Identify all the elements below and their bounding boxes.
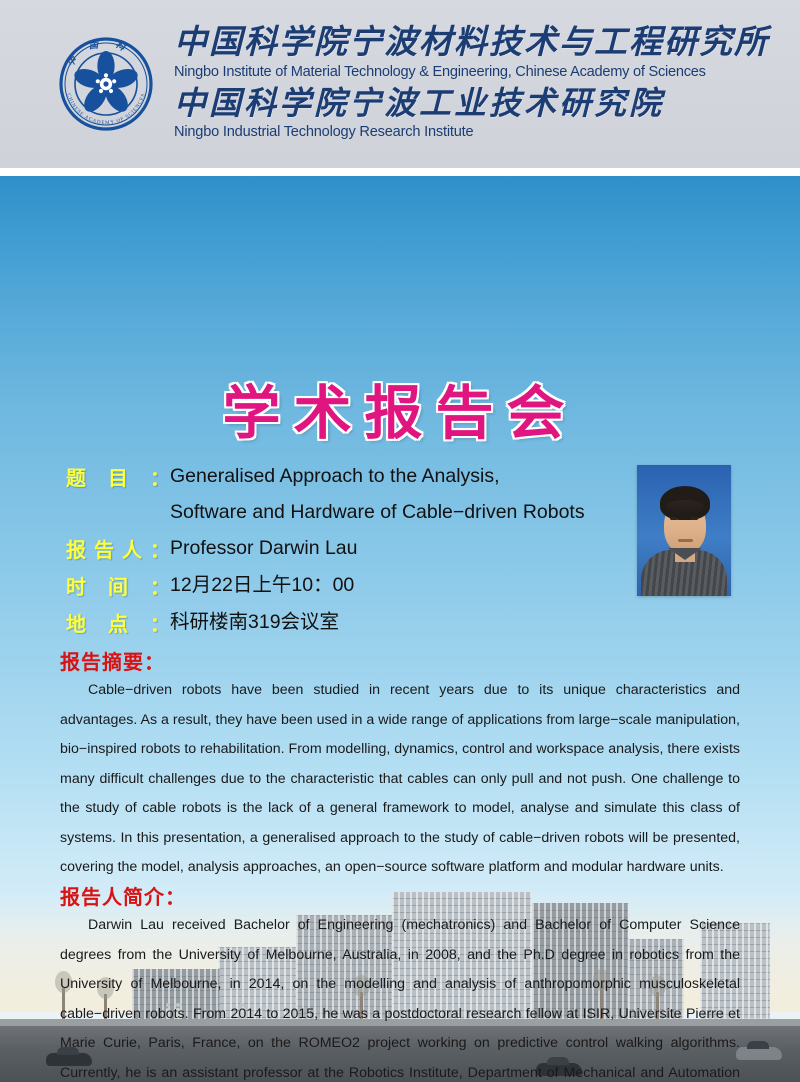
info-row-topic: 题 目 ： Generalised Approach to the Analys… (66, 462, 646, 527)
info-value-venue: 科研楼南319会议室 (170, 608, 646, 638)
label-char: 时 (66, 571, 86, 600)
page-title: 学术报告会 (0, 366, 800, 450)
abstract-heading: 报告摘要： (60, 646, 165, 675)
info-label-topic: 题 目 ： (66, 462, 170, 491)
abstract-body: Cable−driven robots have been studied in… (60, 676, 740, 883)
info-value-time: 12月22日上午10：00 (170, 571, 646, 601)
info-row-venue: 地 点 ： 科研楼南319会议室 (66, 608, 646, 638)
speaker-eye-right (691, 517, 698, 520)
seminar-poster: CHINESE ACADEMY OF SCIENCES 中国科 中国科学院宁波材… (0, 0, 800, 1082)
chinese-academy-of-sciences-seal-icon: CHINESE ACADEMY OF SCIENCES 中国科 (52, 30, 160, 138)
institute2-name-cn: 中国科学院宁波工业技术研究院 (174, 85, 769, 122)
speaker-photo (637, 465, 731, 596)
label-char: 人 (122, 534, 142, 563)
institute-name-en: Ningbo Institute of Material Technology … (174, 62, 769, 84)
info-label-time: 时 间 ： (66, 571, 170, 600)
institute-name-cn: 中国科学院宁波材料技术与工程研究所 (174, 26, 769, 62)
label-char: 地 (66, 608, 86, 637)
label-char: 间 (108, 571, 128, 600)
biography-body: Darwin Lau received Bachelor of Engineer… (60, 911, 740, 1082)
institute2-name-en: Ningbo Industrial Technology Research In… (174, 122, 769, 144)
info-label-venue: 地 点 ： (66, 608, 170, 637)
label-char: 目 (108, 462, 128, 491)
institute-header-band: CHINESE ACADEMY OF SCIENCES 中国科 中国科学院宁波材… (0, 0, 800, 168)
topic-line-2: Software and Hardware of Cable−driven Ro… (170, 498, 646, 528)
info-label-speaker: 报 告 人 ： (66, 534, 170, 563)
info-row-speaker: 报 告 人 ： Professor Darwin Lau (66, 534, 646, 564)
car (736, 1047, 782, 1060)
header-divider (0, 168, 800, 176)
header-inner: CHINESE ACADEMY OF SCIENCES 中国科 中国科学院宁波材… (0, 24, 800, 144)
label-colon: ： (150, 608, 170, 637)
abstract-paragraph: Cable−driven robots have been studied in… (60, 676, 740, 883)
info-value-topic: Generalised Approach to the Analysis, So… (170, 462, 646, 527)
label-char: 告 (94, 534, 114, 563)
label-char: 题 (66, 462, 86, 491)
topic-line-1: Generalised Approach to the Analysis, (170, 465, 500, 487)
label-colon: ： (150, 534, 170, 563)
speaker-eye-left (670, 517, 677, 520)
label-char: 报 (66, 534, 86, 563)
speaker-mouth (678, 539, 693, 542)
info-row-time: 时 间 ： 12月22日上午10：00 (66, 571, 646, 601)
info-value-speaker: Professor Darwin Lau (170, 534, 646, 564)
seminar-info-block: 题 目 ： Generalised Approach to the Analys… (66, 462, 646, 644)
biography-paragraph: Darwin Lau received Bachelor of Engineer… (60, 911, 740, 1082)
speaker-hair (660, 486, 710, 520)
label-colon: ： (150, 571, 170, 600)
label-char: 点 (108, 608, 128, 637)
poster-body: 学术报告会 题 目 ： Generalised Approach to the … (0, 176, 800, 1082)
institute-name-block: 中国科学院宁波材料技术与工程研究所 Ningbo Institute of Ma… (174, 26, 769, 144)
biography-heading: 报告人简介： (60, 881, 186, 910)
label-colon: ： (150, 462, 170, 491)
